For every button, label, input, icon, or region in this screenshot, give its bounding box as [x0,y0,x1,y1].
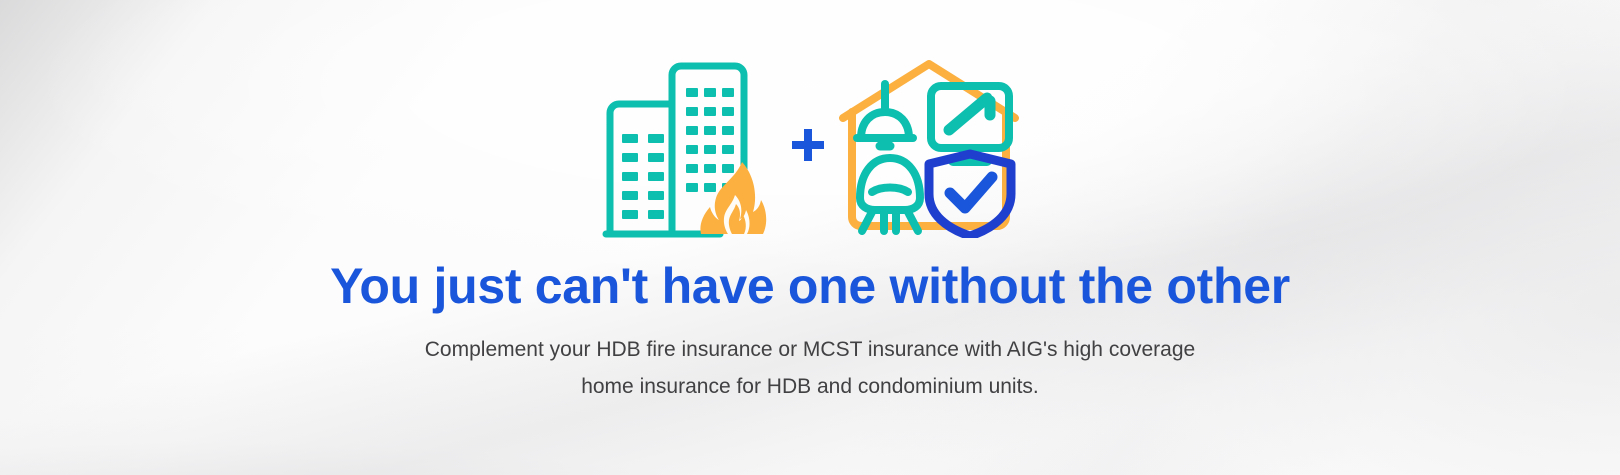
subtitle: Complement your HDB fire insurance or MC… [425,331,1195,406]
short-building-windows [622,134,664,219]
subtitle-line-1: Complement your HDB fire insurance or MC… [425,331,1195,368]
fire-building-icon [602,58,777,238]
armchair-icon [860,158,920,231]
promo-banner: You just can't have one without the othe… [0,0,1620,475]
tall-building-windows [686,88,734,192]
subtitle-line-2: home insurance for HDB and condominium u… [425,368,1195,405]
pendant-lamp-icon [857,84,913,146]
banner-content: You just can't have one without the othe… [0,0,1620,475]
plus-icon [777,58,839,238]
protected-home-icon [839,58,1019,238]
page-title: You just can't have one without the othe… [330,260,1290,313]
icon-row [602,58,1019,238]
